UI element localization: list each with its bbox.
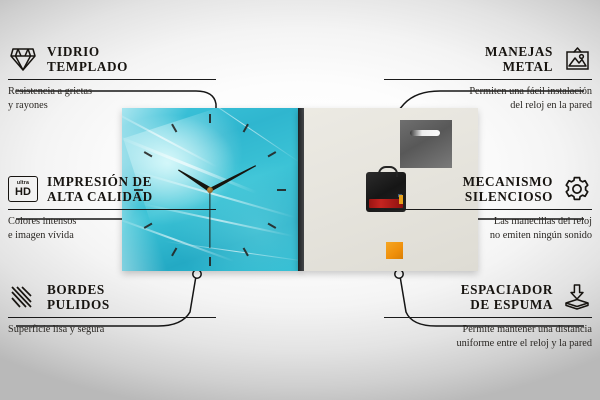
feature-vidrio-templado: VIDRIO TEMPLADO Resistencia a grietas y …: [8, 44, 216, 113]
clock-hour-marker: [277, 189, 286, 191]
polished-edge-icon: [8, 282, 38, 312]
endpoint-espaciador: [395, 270, 403, 278]
feature-impresion-alta-calidad: ultra HD IMPRESIÓN DE ALTA CALIDAD Color…: [8, 174, 216, 243]
feature-description: Superficie lisa y segura: [8, 323, 216, 337]
clock-hour-marker: [268, 222, 277, 228]
feature-divider: [384, 209, 592, 210]
product-feature-infographic: VIDRIO TEMPLADO Resistencia a grietas y …: [0, 0, 600, 400]
picture-frame-hanger-icon: [562, 44, 592, 74]
feature-title: VIDRIO TEMPLADO: [47, 44, 128, 75]
clock-hour-marker: [243, 247, 249, 256]
diamond-icon: [8, 44, 38, 74]
feature-divider: [8, 209, 216, 210]
feature-description: Resistencia a grietas y rayones: [8, 85, 216, 113]
feature-title: MECANISMO SILENCIOSO: [463, 174, 553, 205]
clock-hour-marker: [171, 247, 177, 256]
feature-divider: [8, 317, 216, 318]
hanger-slot: [410, 130, 440, 136]
clock-hour-marker: [268, 151, 277, 157]
endpoint-bordes: [193, 270, 201, 278]
feature-description: Colores intensos e imagen vívida: [8, 215, 216, 243]
feature-espaciador-espuma: ESPACIADOR DE ESPUMA Permite mantener un…: [384, 282, 592, 351]
feature-manejas-metal: MANEJAS METAL Permiten una fácil instala…: [384, 44, 592, 113]
feature-description: Permiten una fácil instalación del reloj…: [384, 85, 592, 113]
feature-title: IMPRESIÓN DE ALTA CALIDAD: [47, 174, 153, 205]
metal-hanger-plate: [400, 120, 452, 168]
ultra-hd-icon: ultra HD: [8, 174, 38, 204]
feature-title: MANEJAS METAL: [485, 44, 553, 75]
feature-description: Las manecillas del reloj no emiten ningú…: [384, 215, 592, 243]
feature-title: ESPACIADOR DE ESPUMA: [461, 282, 553, 313]
feature-divider: [384, 79, 592, 80]
feature-bordes-pulidos: BORDES PULIDOS Superficie lisa y segura: [8, 282, 216, 337]
feature-mecanismo-silencioso: MECANISMO SILENCIOSO Las manecillas del …: [384, 174, 592, 243]
foam-spacer-arrow-icon: [562, 282, 592, 312]
clock-hour-marker: [209, 114, 211, 123]
feature-divider: [384, 317, 592, 318]
ultra-hd-large-label: HD: [15, 187, 31, 198]
feature-title: BORDES PULIDOS: [47, 282, 110, 313]
gear-icon: [562, 174, 592, 204]
feature-divider: [8, 79, 216, 80]
clock-hour-marker: [209, 257, 211, 266]
orange-foam-spacer: [386, 242, 403, 259]
feature-description: Permite mantener una distancia uniforme …: [384, 323, 592, 351]
